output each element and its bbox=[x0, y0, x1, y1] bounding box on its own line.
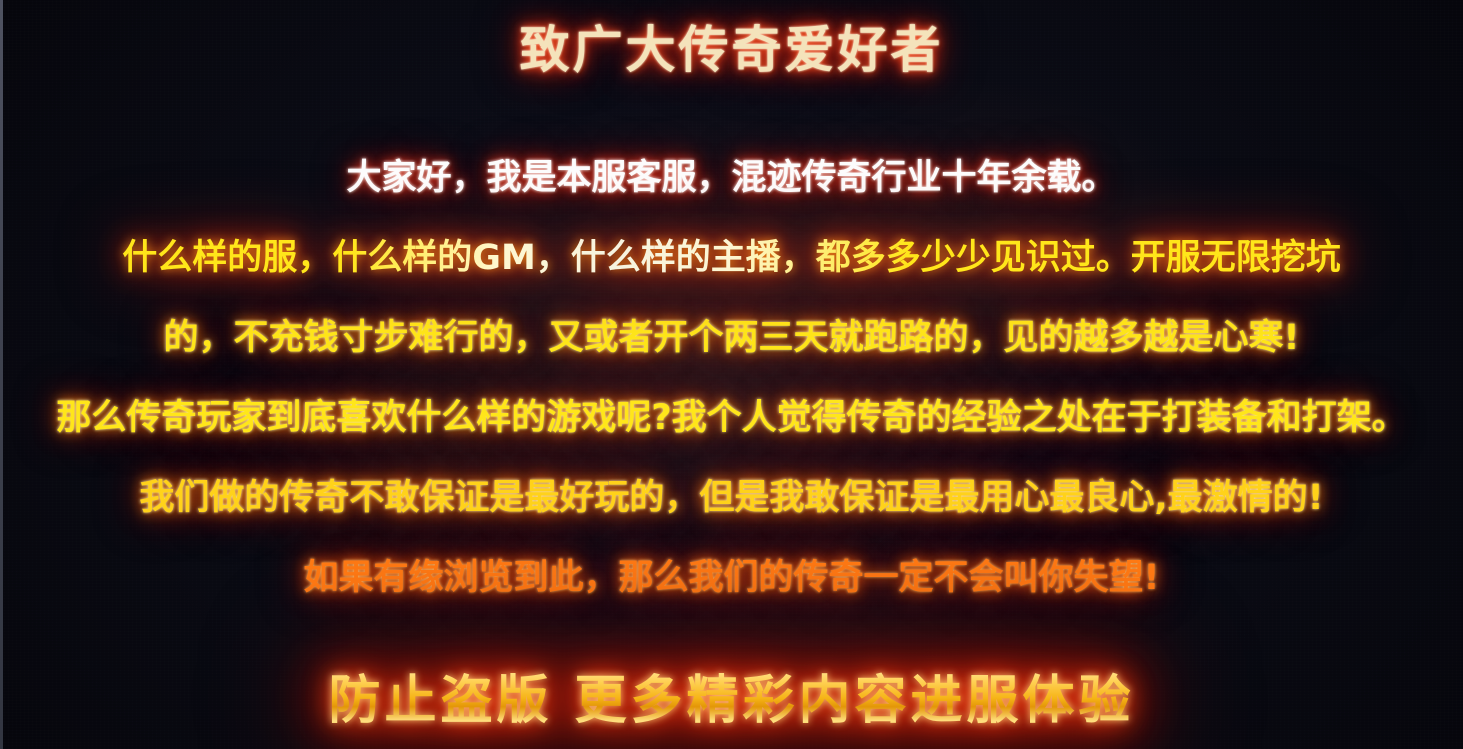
page-title: 致广大传奇爱好者 bbox=[0, 19, 1463, 81]
message-line-6: 如果有缘浏览到此，那么我们的传奇一定不会叫你失望! bbox=[0, 538, 1463, 618]
message-body: 大家好，我是本服客服，混迹传奇行业十年余载。 什么样的服，什么样的GM，什么样的… bbox=[0, 138, 1463, 618]
splash-content: 致广大传奇爱好者 大家好，我是本服客服，混迹传奇行业十年余载。 什么样的服，什么… bbox=[0, 0, 1463, 749]
message-line-4: 那么传奇玩家到底喜欢什么样的游戏呢?我个人觉得传奇的经验之处在于打装备和打架。 bbox=[0, 378, 1463, 458]
message-line-2: 什么样的服，什么样的GM，什么样的主播，都多多少少见识过。开服无限挖坑 bbox=[0, 218, 1463, 298]
message-line-5: 我们做的传奇不敢保证是最好玩的，但是我敢保证是最用心最良心,最激情的! bbox=[0, 458, 1463, 538]
message-line-3: 的，不充钱寸步难行的，又或者开个两三天就跑路的，见的越多越是心寒! bbox=[0, 298, 1463, 378]
anti-piracy-banner: 防止盗版 更多精彩内容进服体验 bbox=[0, 665, 1463, 737]
splash-screen: 致广大传奇爱好者 大家好，我是本服客服，混迹传奇行业十年余载。 什么样的服，什么… bbox=[0, 0, 1463, 749]
message-line-1: 大家好，我是本服客服，混迹传奇行业十年余载。 bbox=[0, 138, 1463, 218]
